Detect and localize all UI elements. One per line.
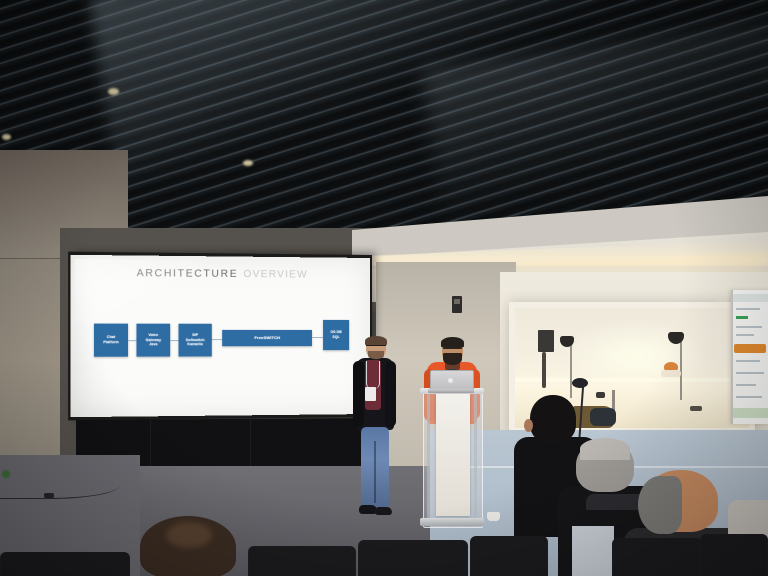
cable-clip	[44, 493, 54, 498]
diagram-node-voice-gateway: VoiceGatewayJava	[136, 324, 170, 357]
niche-tube-object	[542, 352, 546, 388]
presenter-beard	[443, 353, 462, 365]
audience-head	[530, 395, 576, 443]
niche-counter-edge	[515, 378, 749, 382]
presenter-beard	[368, 351, 384, 360]
poster-text-line	[736, 360, 760, 362]
presenter-standing	[352, 337, 396, 527]
niche-dark-panel	[538, 330, 554, 352]
diagram-node-sip-softswitch: SIPSoftswitchKamailio	[179, 324, 212, 357]
badge	[365, 387, 376, 401]
audience-member	[140, 516, 260, 576]
diagram-connector	[312, 337, 323, 338]
poster-text-line	[736, 372, 764, 374]
diagram-connector	[128, 340, 136, 341]
glasses-icon	[366, 345, 386, 350]
poster-header	[733, 294, 768, 302]
poster-text-line	[736, 384, 756, 386]
conference-photo: ARCHITECTUREOVERVIEW ChatPlatformVoiceGa…	[0, 0, 768, 576]
niche-small-object	[690, 406, 702, 411]
diagram-node-label: FreeSWITCH	[252, 335, 282, 341]
diagram-node-freeswitch: FreeSWITCH	[222, 330, 312, 346]
niche-white-tray	[661, 370, 681, 377]
projection-screen: ARCHITECTUREOVERVIEW ChatPlatformVoiceGa…	[70, 255, 370, 417]
poster-text-line	[736, 308, 760, 310]
bag-dark-part	[590, 408, 616, 426]
chair	[0, 552, 130, 576]
poster-green-mark	[736, 316, 748, 319]
chair	[358, 540, 468, 576]
lectern-base	[420, 518, 484, 526]
diagram-node-os-db: OS DBSQL	[323, 320, 349, 350]
diagram-node-label: VoiceGatewayJava	[144, 332, 164, 347]
audience-hair	[638, 476, 682, 534]
chair	[248, 546, 356, 576]
audience-shirt	[572, 526, 614, 576]
chair	[700, 534, 768, 576]
ceiling-spotlight	[2, 134, 11, 140]
wall-speaker-detail	[454, 299, 460, 304]
diagram-connector	[212, 339, 222, 340]
diagram-node-label: SIPSoftswitchKamailio	[184, 333, 207, 348]
audience-hair-highlight	[166, 522, 212, 548]
audience-hair	[580, 438, 630, 460]
side-poster	[731, 290, 768, 424]
laptop	[428, 370, 474, 392]
lectern-post	[427, 394, 430, 518]
diagram-node-label: ChatPlatform	[101, 335, 121, 345]
chair	[470, 536, 548, 576]
niche-backlight	[560, 320, 710, 380]
poster-text-line	[736, 326, 762, 328]
lectern-post	[474, 394, 477, 518]
niche-lamp-arm	[680, 338, 682, 400]
audience-ear	[524, 419, 533, 432]
diagram-node-chat-platform: ChatPlatform	[94, 324, 128, 357]
laptop-logo-icon	[448, 378, 453, 383]
presenter-hair	[441, 337, 464, 348]
laptop-base	[428, 389, 474, 393]
poster-footer	[733, 408, 768, 418]
niche-lamp-arm	[570, 340, 572, 398]
glasses-icon	[443, 348, 462, 353]
presenter-arm-right	[385, 361, 396, 427]
chair	[612, 538, 702, 576]
leg-seam	[374, 441, 376, 503]
shoe	[375, 507, 392, 515]
cable-connector	[2, 470, 10, 478]
diagram-node-label: OS DBSQL	[328, 330, 343, 340]
screen-glare	[75, 259, 202, 322]
slide-title-suffix: OVERVIEW	[243, 269, 307, 281]
skirt-fold	[250, 419, 251, 473]
mic-head	[572, 378, 588, 388]
poster-text-line	[736, 334, 754, 336]
ceiling-spotlight	[108, 88, 119, 95]
poster-orange-banner	[734, 344, 766, 353]
cup	[487, 512, 500, 521]
presenter-arm-left	[353, 361, 364, 427]
diagram-connector	[170, 340, 178, 341]
poster-text-line	[736, 396, 762, 398]
lectern-front-panel	[436, 394, 470, 516]
ceiling-spotlight	[243, 160, 253, 166]
lanyard	[366, 361, 380, 389]
niche-small-object	[596, 392, 605, 398]
